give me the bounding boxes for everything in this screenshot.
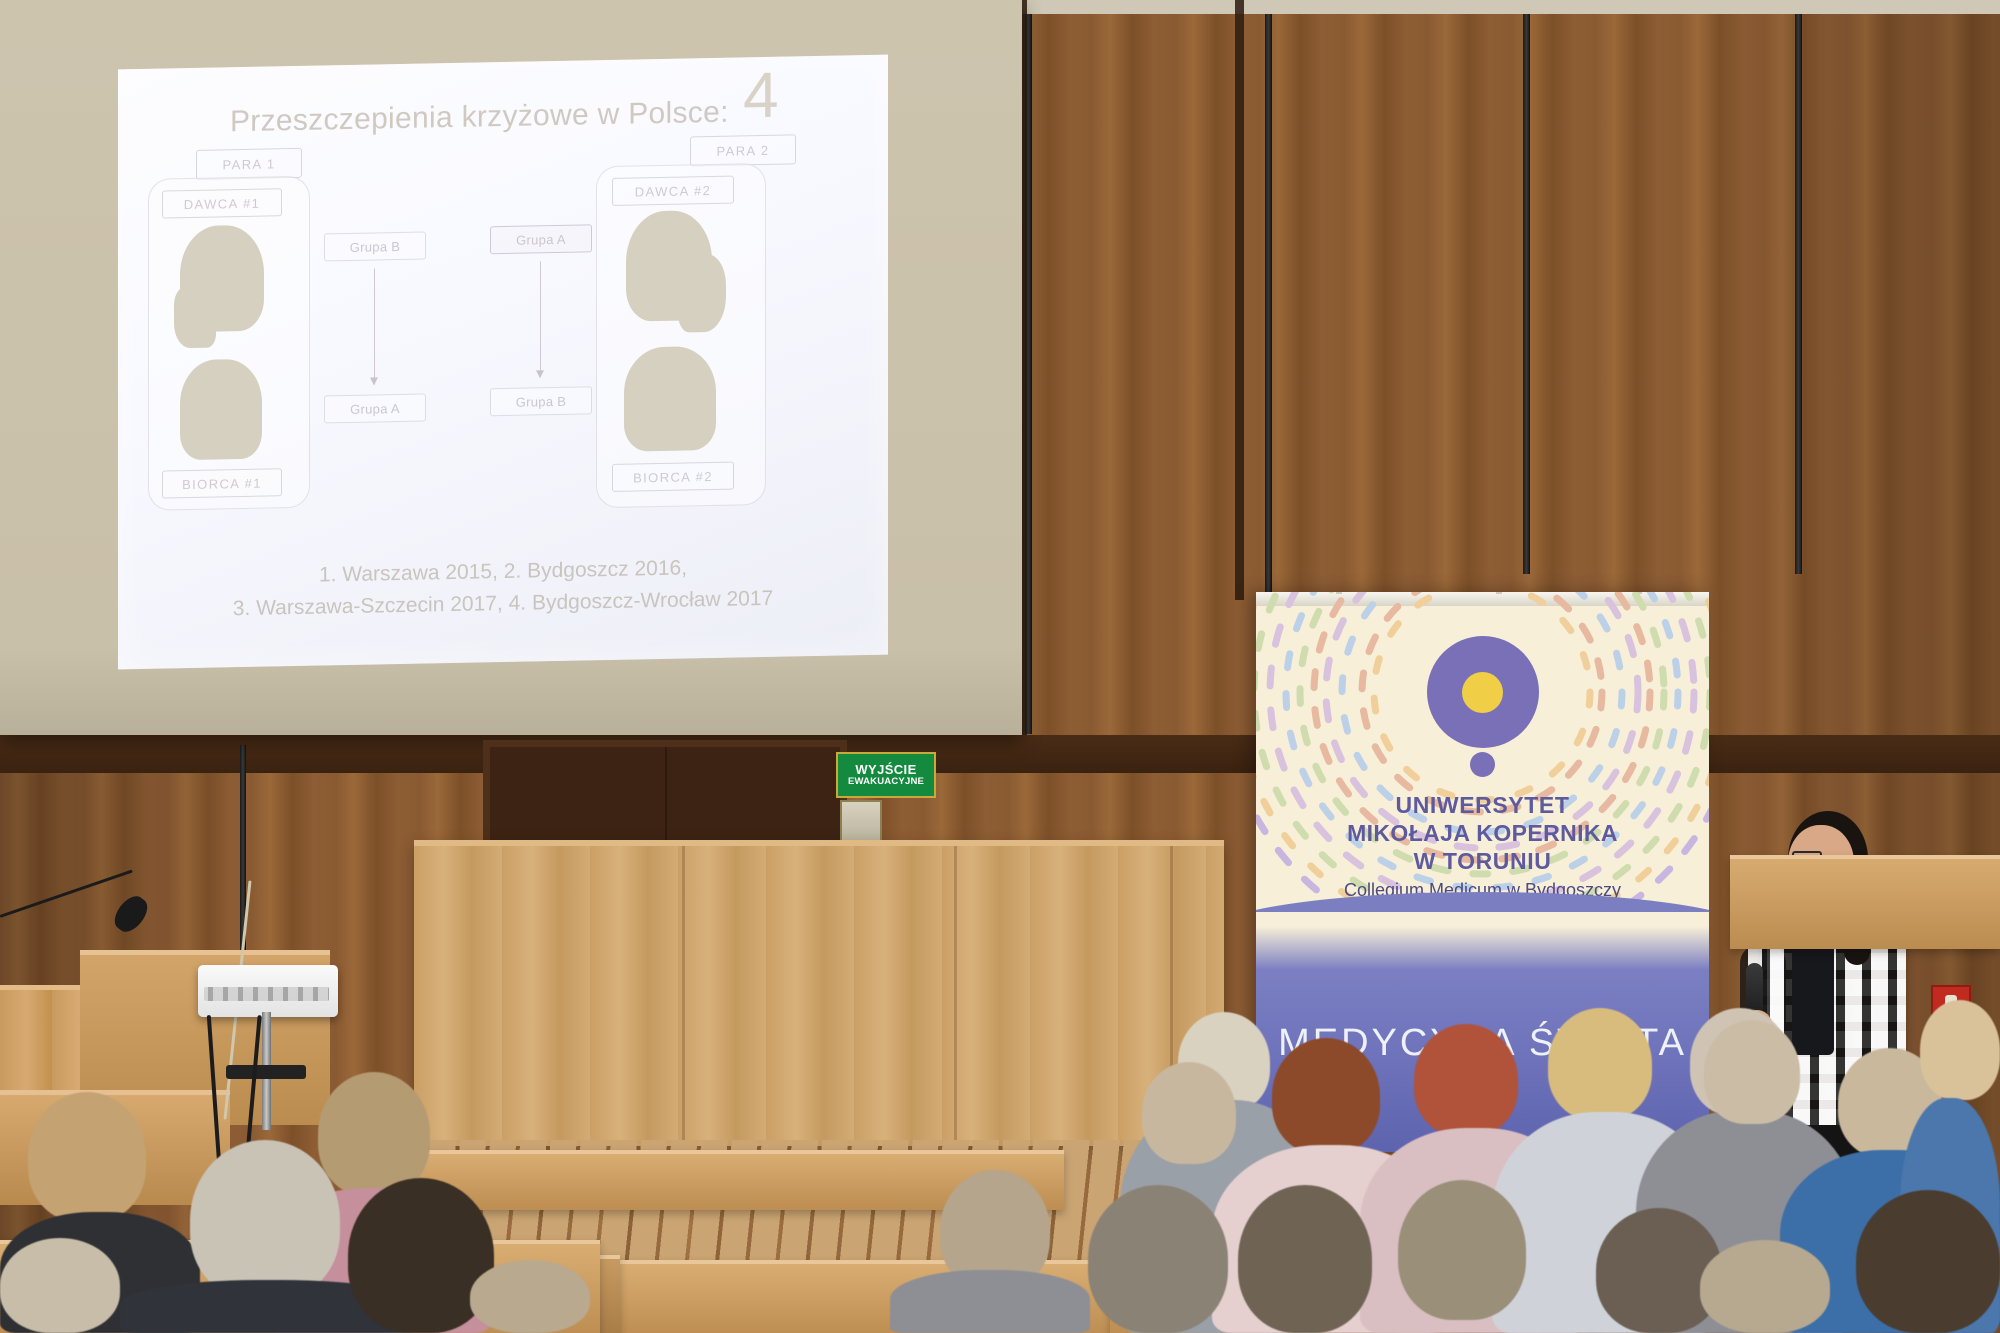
wall-conduit <box>1265 14 1272 614</box>
slide-donor2-label: DAWCA #2 <box>612 176 734 206</box>
projection-screen: Przeszczepienia krzyżowe w Polsce: 4 PAR… <box>118 55 888 670</box>
audience-head <box>1548 1008 1652 1120</box>
slide-recipient1-label: BIORCA #1 <box>162 468 282 498</box>
banner-line3: W TORUNIU <box>1256 848 1709 875</box>
projection-screen-frame: Przeszczepienia krzyżowe w Polsce: 4 PAR… <box>0 0 1022 735</box>
audience-head <box>1088 1185 1228 1333</box>
projector-device <box>198 965 338 1017</box>
slide-footer-line2: 3. Warszawa-Szczecin 2017, 4. Bydgoszcz-… <box>118 585 888 624</box>
audience-head <box>1700 1240 1830 1333</box>
exit-sign-line1: WYJŚCIE <box>855 763 916 777</box>
right-group-to: Grupa B <box>490 386 592 416</box>
wall-conduit <box>1025 14 1032 734</box>
audience-head <box>1704 1020 1800 1124</box>
audience-head <box>1414 1024 1518 1136</box>
audience-head <box>28 1092 146 1222</box>
exit-sign-line2: EWAKUACYJNE <box>848 777 924 787</box>
side-lectern <box>1730 855 2000 949</box>
lecture-hall-photo: Przeszczepienia krzyżowe w Polsce: 4 PAR… <box>0 0 2000 1333</box>
audience-head <box>0 1238 120 1333</box>
banner-line2: MIKOŁAJA KOPERNIKA <box>1256 820 1709 847</box>
wall-conduit <box>1795 14 1802 574</box>
right-flow-arrow <box>540 261 541 377</box>
donor2-silhouette-hair <box>678 254 726 333</box>
emergency-exit-sign: WYJŚCIE EWAKUACYJNE <box>836 752 936 798</box>
university-logo-sub-dot <box>1470 752 1495 777</box>
slide-pair1-label: PARA 1 <box>196 148 302 180</box>
slide-recipient2-label: BIORCA #2 <box>612 462 734 492</box>
audience-head <box>1142 1062 1236 1164</box>
wall-conduit <box>1523 14 1530 574</box>
right-group-from: Grupa A <box>490 224 592 254</box>
donor1-silhouette-hair <box>174 286 216 349</box>
audience-head <box>1920 1000 2000 1100</box>
audience-head <box>1238 1185 1372 1333</box>
slide-footer-line1: 1. Warszawa 2015, 2. Bydgoszcz 2016, <box>118 553 888 592</box>
recipient1-silhouette <box>180 359 262 461</box>
audience-head <box>1856 1190 2000 1333</box>
wall-seam <box>1235 0 1244 600</box>
projector-stand-foot <box>226 1065 306 1079</box>
projector-ports <box>204 987 329 1001</box>
left-group-to: Grupa A <box>324 393 426 423</box>
stage-partition <box>414 840 1224 1146</box>
audience-head <box>1272 1038 1380 1154</box>
slide-pair2-label: PARA 2 <box>690 134 796 166</box>
audience-head <box>190 1140 340 1300</box>
audience-shoulders <box>890 1270 1090 1333</box>
slide-donor1-label: DAWCA #1 <box>162 188 282 218</box>
left-group-from: Grupa B <box>324 231 426 261</box>
slide-count-number: 4 <box>743 63 779 128</box>
audience-head <box>1398 1180 1526 1320</box>
slide-title: Przeszczepienia krzyżowe w Polsce: <box>230 94 830 140</box>
university-logo-inner-dot <box>1462 672 1503 713</box>
recipient2-silhouette <box>624 346 716 452</box>
banner-line1: UNIWERSYTET <box>1256 792 1709 819</box>
audience-head <box>470 1260 590 1333</box>
left-flow-arrow <box>374 268 375 384</box>
